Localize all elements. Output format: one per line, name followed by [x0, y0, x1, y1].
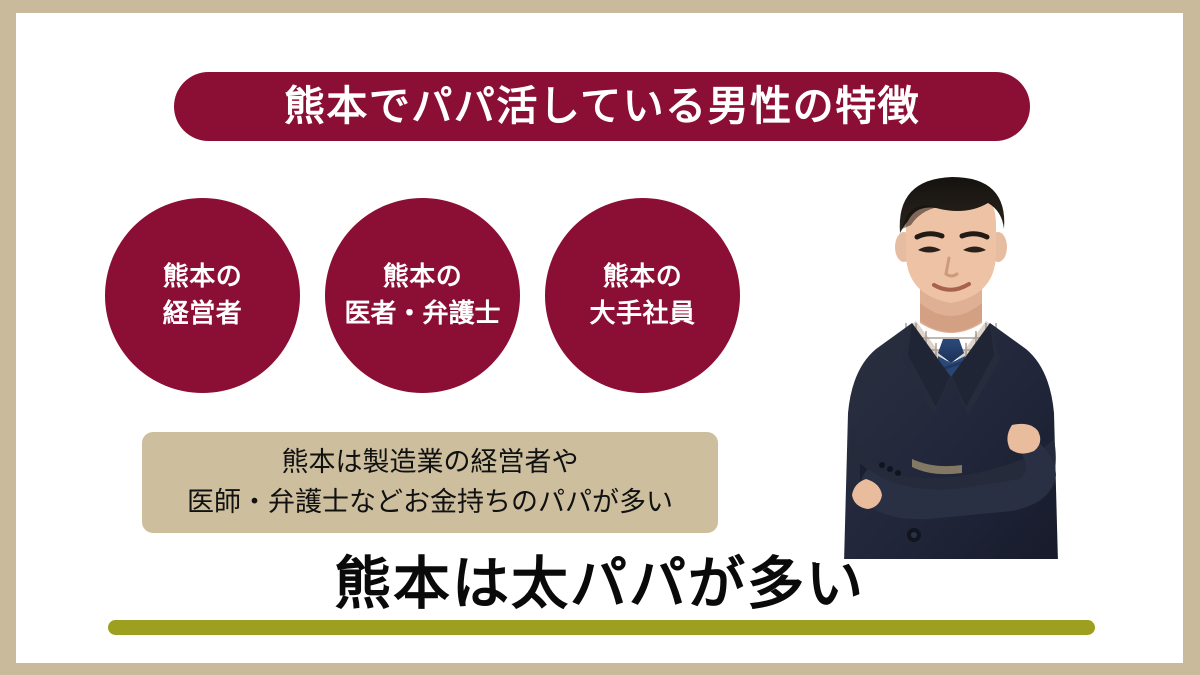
note-line-2: 医師・弁護士などお金持ちのパパが多い [187, 483, 673, 523]
headline-underline-bar [108, 620, 1095, 635]
circle-1-line-1: 熊本の [163, 259, 243, 296]
circle-group: 熊本の 経営者 熊本の 医者・弁護士 熊本の 大手社員 [105, 198, 765, 393]
slide-frame: 熊本でパパ活している男性の特徴 熊本の 経営者 熊本の 医者・弁護士 熊本の 大… [0, 0, 1200, 675]
circle-3-line-2: 大手社員 [589, 296, 695, 333]
circle-item-2: 熊本の 医者・弁護士 [325, 198, 520, 393]
businessman-photo [816, 163, 1086, 563]
note-line-1: 熊本は製造業の経営者や [282, 443, 579, 483]
circle-item-1: 熊本の 経営者 [105, 198, 300, 393]
circle-3-line-1: 熊本の [603, 259, 683, 296]
headline-text: 熊本は太パパが多い [334, 551, 865, 617]
circle-1-line-2: 経営者 [163, 296, 243, 333]
slide-canvas: 熊本でパパ活している男性の特徴 熊本の 経営者 熊本の 医者・弁護士 熊本の 大… [16, 13, 1183, 663]
circle-2-line-2: 医者・弁護士 [344, 296, 500, 333]
note-box: 熊本は製造業の経営者や 医師・弁護士などお金持ちのパパが多い [142, 432, 718, 533]
circle-item-3: 熊本の 大手社員 [545, 198, 740, 393]
businessman-illustration [816, 163, 1086, 563]
page-title: 熊本でパパ活している男性の特徴 [284, 86, 920, 127]
title-banner: 熊本でパパ活している男性の特徴 [174, 72, 1030, 141]
circle-2-line-1: 熊本の [383, 259, 463, 296]
